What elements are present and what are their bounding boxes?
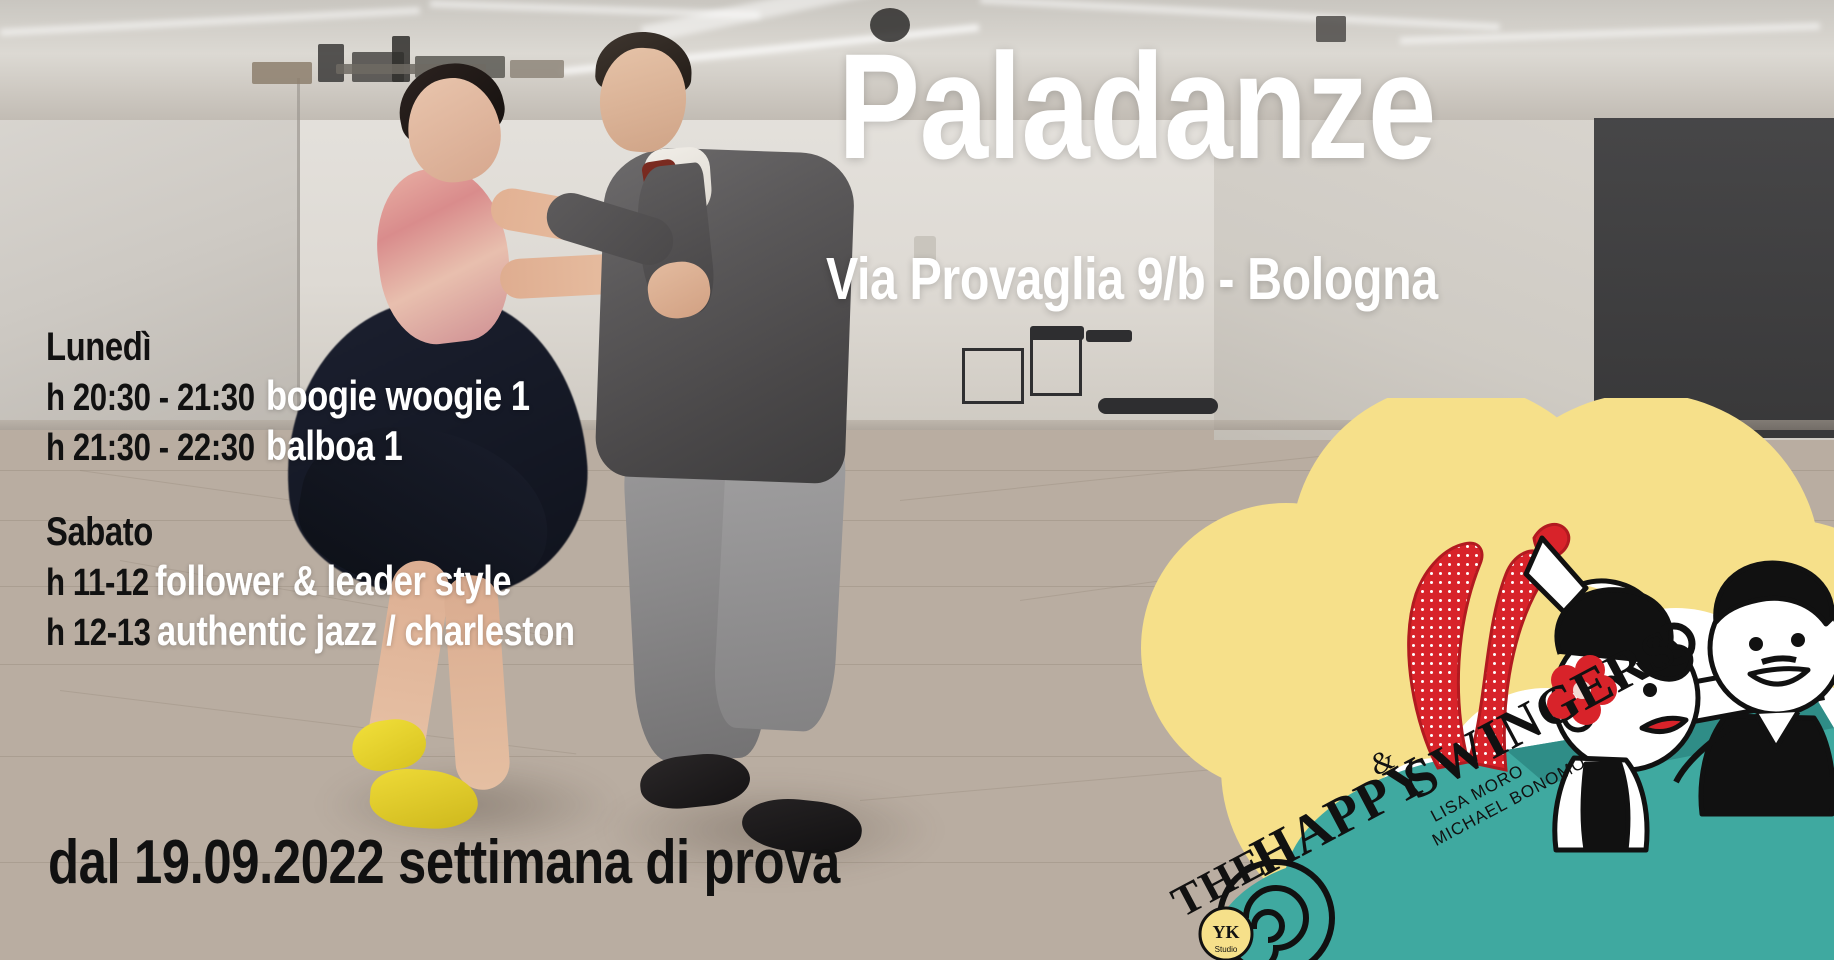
schedule-day-label: Lunedì	[46, 326, 669, 368]
svg-text:Studio: Studio	[1215, 945, 1238, 954]
schedule-time: h 21:30 - 22:30	[46, 427, 255, 470]
schedule-course: follower & leader style	[155, 557, 511, 604]
schedule-row: h 11-12follower & leader style	[46, 557, 806, 605]
schedule-row: h 20:30 - 21:30boogie woogie 1	[46, 372, 806, 420]
schedule-course: balboa 1	[266, 422, 402, 469]
leader-shoe	[638, 749, 753, 812]
promo-tagline: dal 19.09.2022 settimana di prova	[48, 832, 840, 894]
schedule-time: h 12-13	[46, 612, 151, 655]
schedule-course: authentic jazz / charleston	[157, 607, 575, 654]
happy-swingers-logo: THE HAPPY SWINGERS & LISA MORO MICHAEL B…	[986, 398, 1834, 960]
schedule-row: h 21:30 - 22:30balboa 1	[46, 422, 806, 470]
venue-address: Via Provaglia 9/b - Bologna	[826, 250, 1438, 309]
schedule-spacer	[46, 471, 806, 511]
page-title: Paladanze	[838, 34, 1436, 178]
schedule-course: boogie woogie 1	[266, 372, 530, 419]
class-schedule: Lunedì h 20:30 - 21:30boogie woogie 1 h …	[46, 326, 806, 656]
logo-yk-badge: YK Studio	[1200, 908, 1252, 960]
schedule-row: h 12-13authentic jazz / charleston	[46, 607, 806, 655]
schedule-time: h 20:30 - 21:30	[46, 377, 255, 420]
svg-text:YK: YK	[1213, 922, 1240, 942]
poster-canvas: Paladanze Via Provaglia 9/b - Bologna Lu…	[0, 0, 1834, 960]
schedule-time: h 11-12	[46, 562, 149, 605]
schedule-day-label: Sabato	[46, 511, 669, 553]
